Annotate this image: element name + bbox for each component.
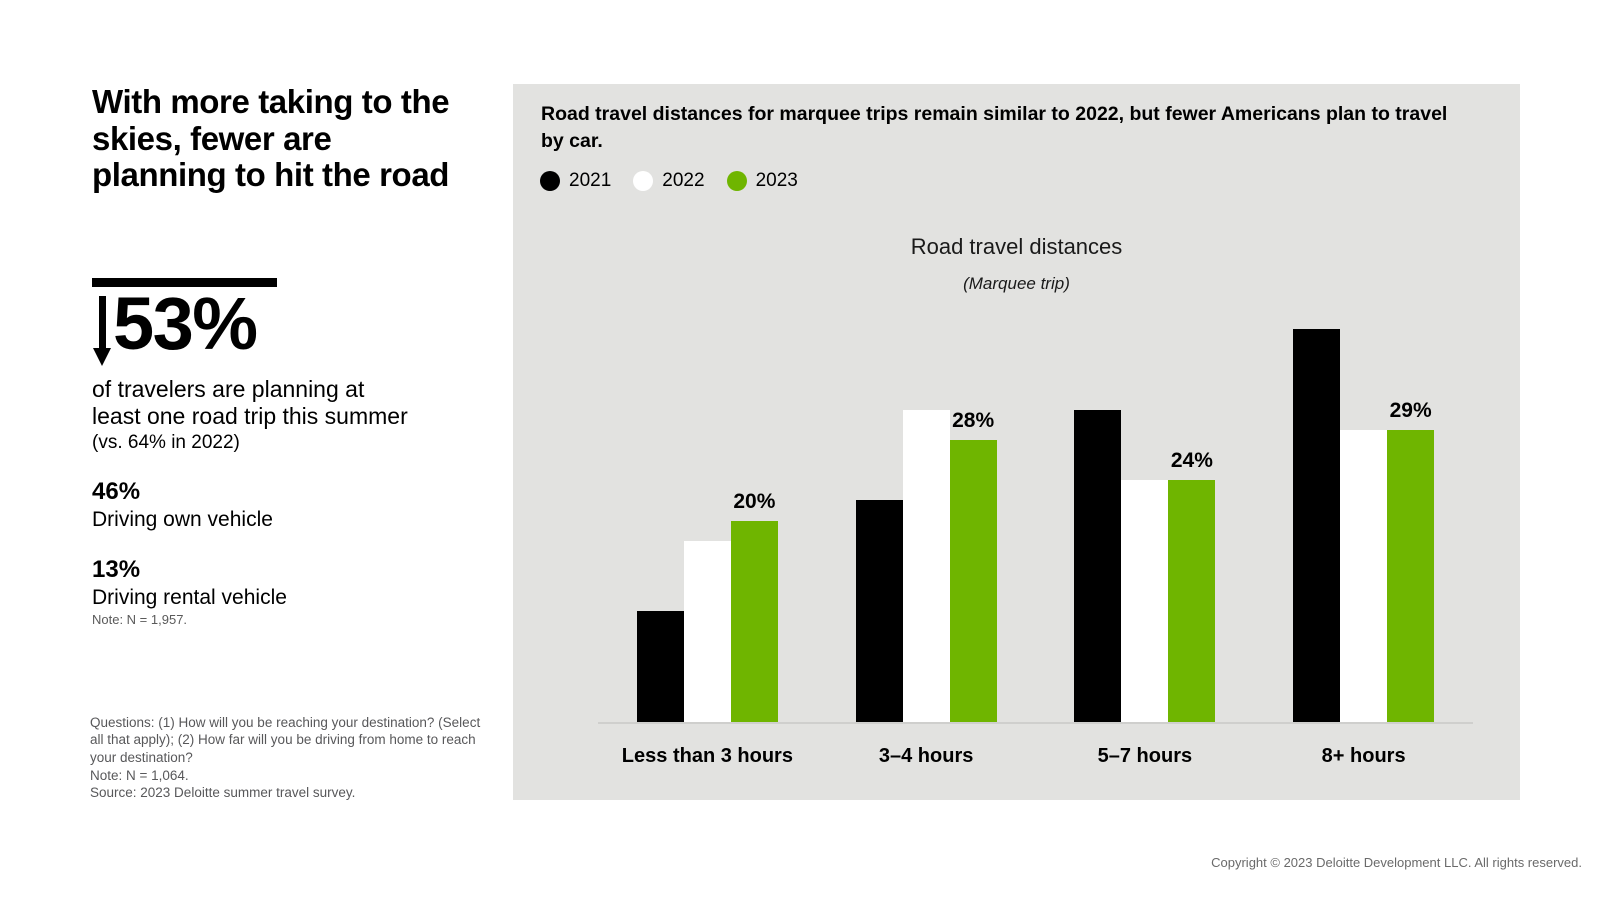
bar-group: 29%8+ hours [1254, 299, 1473, 722]
category-label: 3–4 hours [817, 745, 1036, 768]
footnote-source: Source: 2023 Deloitte summer travel surv… [90, 784, 488, 801]
big-stat-block: 53% [92, 290, 492, 374]
bar-value-label: 29% [1390, 399, 1432, 423]
bar-2023[interactable]: 28% [950, 440, 997, 722]
ministat-label: Driving own vehicle [92, 507, 492, 532]
bar-2021[interactable] [856, 500, 903, 722]
bar-group-bars: 28% [817, 299, 1036, 722]
chart-subtitle: (Marquee trip) [513, 274, 1520, 294]
chart-panel: Road travel distances for marquee trips … [513, 84, 1520, 800]
x-axis-line [598, 722, 1473, 724]
legend-label: 2023 [756, 170, 798, 192]
copyright-text: Copyright © 2023 Deloitte Development LL… [1211, 855, 1582, 870]
big-stat-description: of travelers are planning at least one r… [92, 376, 412, 431]
bar-value-label: 24% [1171, 449, 1213, 473]
bar-groups: 20%Less than 3 hours28%3–4 hours24%5–7 h… [598, 299, 1473, 722]
arrow-down-icon [92, 296, 114, 374]
big-stat-value: 53% [113, 290, 257, 358]
bar-2021[interactable] [637, 611, 684, 722]
category-label: 5–7 hours [1036, 745, 1255, 768]
chart-legend: 2021 2022 2023 [540, 170, 798, 192]
bar-2023[interactable]: 29% [1387, 430, 1434, 722]
bar-group-bars: 24% [1036, 299, 1255, 722]
bar-2021[interactable] [1293, 329, 1340, 722]
footnote-note: Note: N = 1,064. [90, 767, 488, 784]
page-title: With more taking to the skies, fewer are… [92, 84, 462, 194]
footnote-block: Questions: (1) How will you be reaching … [90, 714, 488, 801]
category-label: 8+ hours [1254, 745, 1473, 768]
big-stat-comparison: (vs. 64% in 2022) [92, 432, 492, 454]
bar-group: 28%3–4 hours [817, 299, 1036, 722]
bar-value-label: 20% [733, 490, 775, 514]
bar-group: 20%Less than 3 hours [598, 299, 817, 722]
bar-2021[interactable] [1074, 410, 1121, 722]
legend-label: 2022 [662, 170, 704, 192]
left-column: With more taking to the skies, fewer are… [92, 84, 492, 627]
ministat-value: 13% [92, 556, 492, 585]
bar-2022[interactable] [1340, 430, 1387, 722]
plot-area: 20%Less than 3 hours28%3–4 hours24%5–7 h… [598, 299, 1473, 724]
footnote-questions: Questions: (1) How will you be reaching … [90, 714, 488, 766]
bar-2022[interactable] [684, 541, 731, 722]
category-label: Less than 3 hours [598, 745, 817, 768]
bar-2022[interactable] [1121, 480, 1168, 722]
bar-2023[interactable]: 24% [1168, 480, 1215, 722]
slide-root: With more taking to the skies, fewer are… [0, 0, 1600, 900]
ministat-value: 46% [92, 478, 492, 507]
ministat-label: Driving rental vehicle [92, 585, 492, 610]
legend-label: 2021 [569, 170, 611, 192]
ministat-rental-vehicle: 13% Driving rental vehicle Note: N = 1,9… [92, 556, 492, 627]
bar-group-bars: 20% [598, 299, 817, 722]
bar-group-bars: 29% [1254, 299, 1473, 722]
legend-swatch-icon [727, 171, 747, 191]
bar-group: 24%5–7 hours [1036, 299, 1255, 722]
legend-item-2021[interactable]: 2021 [540, 170, 611, 192]
legend-item-2022[interactable]: 2022 [633, 170, 704, 192]
legend-item-2023[interactable]: 2023 [727, 170, 798, 192]
chart-panel-title: Road travel distances for marquee trips … [541, 101, 1461, 155]
chart-title: Road travel distances [513, 234, 1520, 260]
bar-2022[interactable] [903, 410, 950, 722]
ministat-own-vehicle: 46% Driving own vehicle [92, 478, 492, 532]
legend-swatch-icon [633, 171, 653, 191]
legend-swatch-icon [540, 171, 560, 191]
bar-2023[interactable]: 20% [731, 521, 778, 722]
bar-value-label: 28% [952, 409, 994, 433]
ministat-note: Note: N = 1,957. [92, 612, 492, 627]
